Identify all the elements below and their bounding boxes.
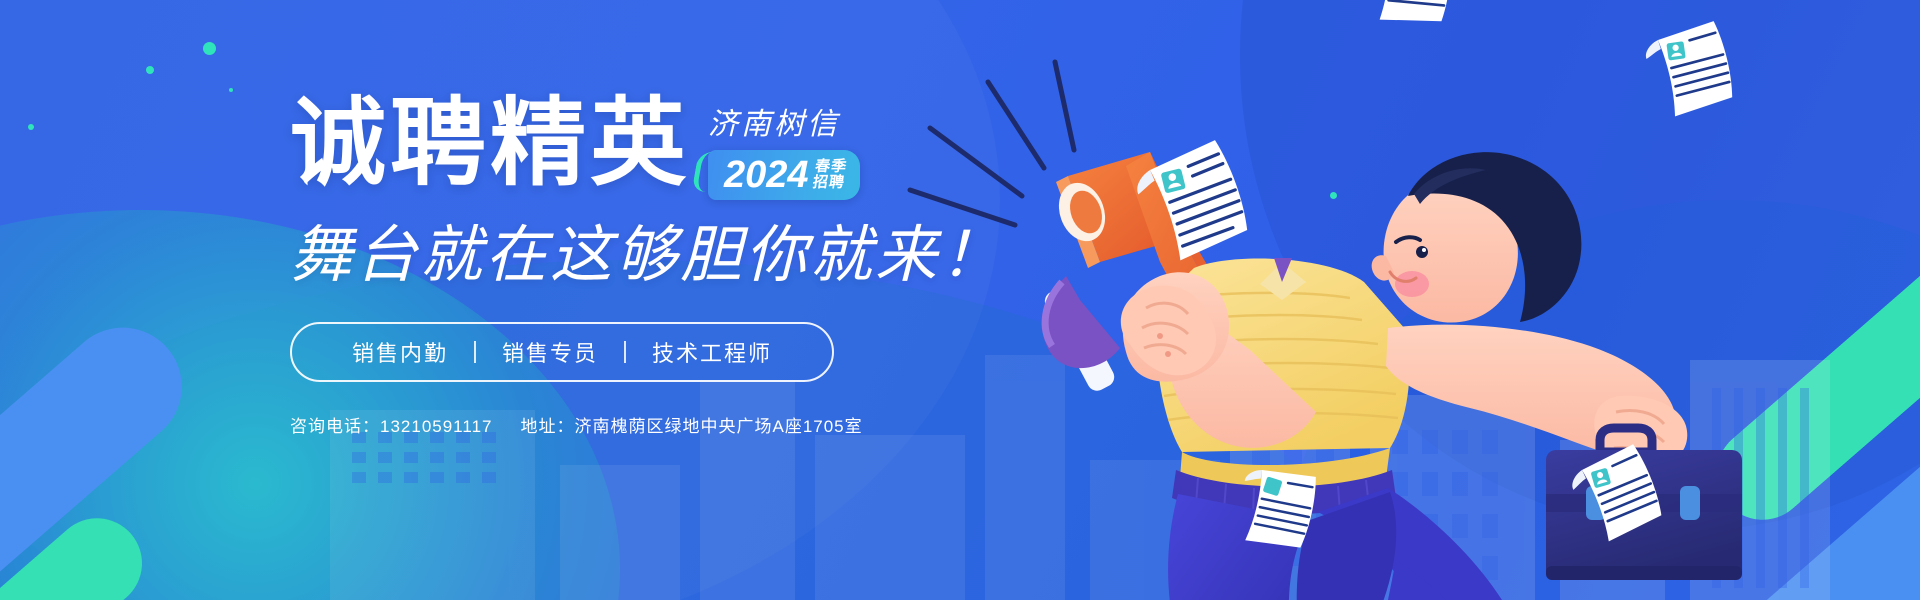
page-subtitle: 舞台就在这够胆你就来！ (290, 222, 1050, 290)
resume-document-2 (1359, 0, 1459, 32)
character-back-leg (1043, 276, 1120, 368)
decorative-dot (146, 66, 154, 74)
year-badge: 2024 春季 招聘 (708, 150, 860, 200)
badge-season-stack: 春季 招聘 (811, 159, 847, 191)
decorative-dot (28, 124, 34, 130)
badge-year: 2024 (724, 156, 809, 194)
decorative-dot (203, 42, 216, 55)
contact-address: 地址：济南槐荫区绿地中央广场A座1705室 (520, 412, 862, 437)
positions-pill: 销售内勤 销售专员 技术工程师 (290, 322, 834, 382)
decorative-dot (229, 88, 233, 92)
banner-content: 诚聘精英 济南树信 2024 春季 招聘 舞台就在这够胆你就来！ 销售内勤 销售… (290, 96, 1050, 382)
resume-document-3 (1642, 20, 1735, 119)
badge-stack: 济南树信 2024 春季 招聘 (708, 96, 860, 200)
position-item-sales-specialist[interactable]: 销售专员 (476, 336, 624, 368)
character-right-arm (1386, 325, 1687, 469)
company-name: 济南树信 (708, 110, 840, 140)
character-head (1372, 152, 1582, 322)
contact-row: 咨询电话：13210591117 地址：济南槐荫区绿地中央广场A座1705室 (290, 412, 863, 437)
diagonal-bar-left-blue (0, 303, 206, 600)
diagonal-bar-left-teal (0, 500, 160, 600)
headline-row: 诚聘精英 济南树信 2024 春季 招聘 (290, 96, 1050, 200)
recruitment-banner: 诚聘精英 济南树信 2024 春季 招聘 舞台就在这够胆你就来！ 销售内勤 销售… (0, 0, 1920, 600)
position-item-technical-engineer[interactable]: 技术工程师 (626, 336, 798, 368)
contact-phone: 咨询电话：13210591117 (290, 412, 492, 437)
badge-season-line-1: 春季 (814, 159, 848, 175)
position-item-sales-assistant[interactable]: 销售内勤 (326, 336, 474, 368)
badge-season-line-2: 招聘 (811, 175, 845, 191)
page-title: 诚聘精英 (290, 96, 690, 192)
